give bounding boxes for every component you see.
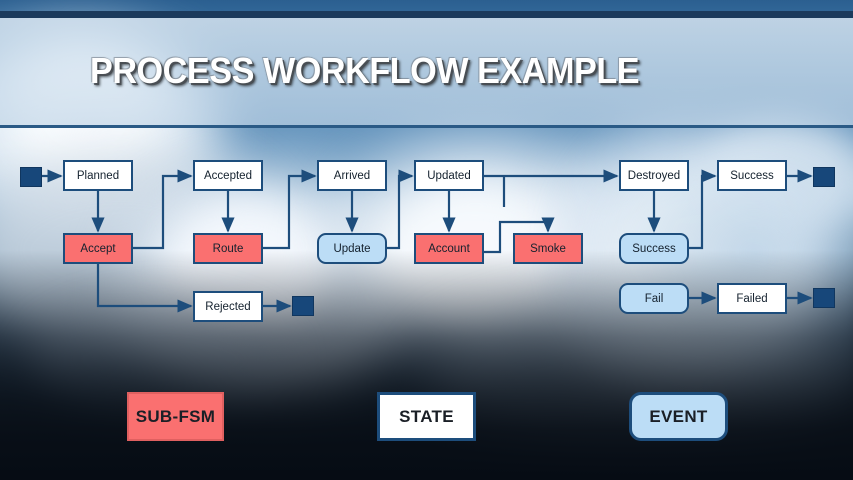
node-route[interactable]: Route <box>193 233 263 264</box>
terminal-end-rejected <box>292 296 314 316</box>
node-update[interactable]: Update <box>317 233 387 264</box>
terminal-end-failed <box>813 288 835 308</box>
node-smoke[interactable]: Smoke <box>513 233 583 264</box>
legend-subfsm[interactable]: SUB-FSM <box>127 392 224 441</box>
terminal-start <box>20 167 42 187</box>
node-planned[interactable]: Planned <box>63 160 133 191</box>
node-accepted[interactable]: Accepted <box>193 160 263 191</box>
node-rejected[interactable]: Rejected <box>193 291 263 322</box>
legend-state[interactable]: STATE <box>377 392 476 441</box>
node-success-event[interactable]: Success <box>619 233 689 264</box>
node-account[interactable]: Account <box>414 233 484 264</box>
node-updated[interactable]: Updated <box>414 160 484 191</box>
node-success-state[interactable]: Success <box>717 160 787 191</box>
terminal-end-success <box>813 167 835 187</box>
slide-canvas: PROCESS WORKFLOW EXAMPLE <box>0 0 853 480</box>
node-destroyed[interactable]: Destroyed <box>619 160 689 191</box>
node-arrived[interactable]: Arrived <box>317 160 387 191</box>
node-fail-event[interactable]: Fail <box>619 283 689 314</box>
legend-event[interactable]: EVENT <box>629 392 728 441</box>
node-accept[interactable]: Accept <box>63 233 133 264</box>
node-failed-state[interactable]: Failed <box>717 283 787 314</box>
